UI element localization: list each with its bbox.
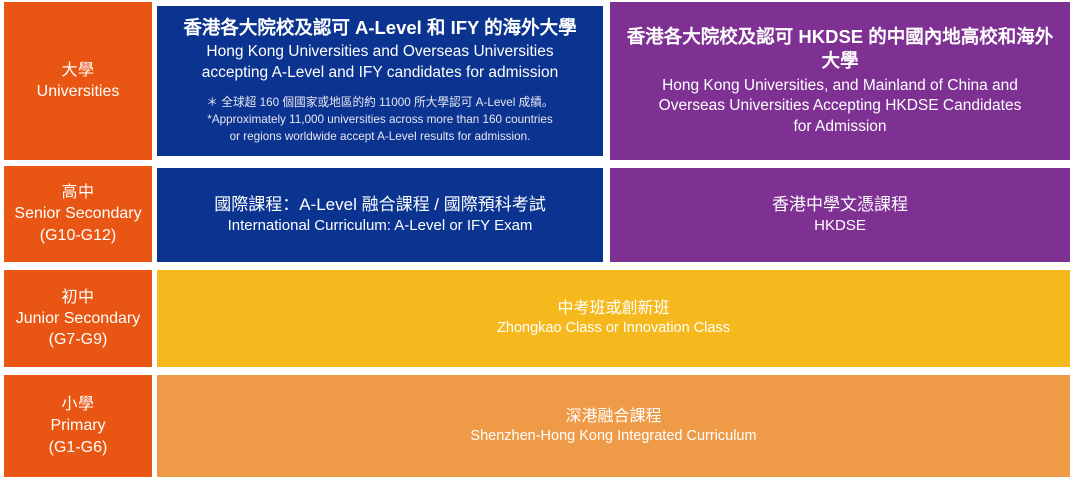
university-hkdse-panel: 香港各大院校及認可 HKDSE 的中國內地高校和海外大學 Hong Kong U…: [610, 2, 1070, 160]
alevel-footnote-en-line1: *Approximately 11,000 universities acros…: [183, 112, 576, 129]
alevel-university-title-zh: 香港各大院校及認可 A-Level 和 IFY 的海外大學: [183, 16, 576, 40]
junior-curriculum-title-en: Zhongkao Class or Innovation Class: [497, 319, 730, 338]
stage-label-senior-secondary: 高中 Senior Secondary (G10-G12): [4, 166, 152, 262]
stage-label-grade-range: (G10-G12): [40, 225, 116, 246]
stage-label-grade-range: (G7-G9): [49, 329, 108, 350]
alevel-university-title-en-line1: Hong Kong Universities and Overseas Univ…: [183, 42, 576, 62]
primary-curriculum-title-en: Shenzhen-Hong Kong Integrated Curriculum: [470, 427, 756, 446]
stage-label-grade-range: (G1-G6): [49, 437, 108, 458]
stage-label-en: Universities: [37, 81, 120, 102]
senior-hkdse-title-en: HKDSE: [772, 216, 908, 236]
alevel-footnote: ＊ 全球超 160 個國家或地區的約 11000 所大學認可 A-Level 成…: [183, 95, 576, 146]
stage-label-zh: 小學: [61, 394, 94, 415]
senior-hkdse-title-zh: 香港中學文憑課程: [772, 194, 908, 216]
stage-label-en: Junior Secondary: [16, 308, 141, 329]
alevel-footnote-zh: ＊ 全球超 160 個國家或地區的約 11000 所大學認可 A-Level 成…: [183, 95, 576, 112]
stage-label-universities: 大學 Universities: [4, 2, 152, 160]
junior-curriculum-title-zh: 中考班或創新班: [497, 298, 730, 319]
senior-hkdse-curriculum-panel: 香港中學文憑課程 HKDSE: [610, 168, 1070, 262]
university-alevel-ify-panel: 香港各大院校及認可 A-Level 和 IFY 的海外大學 Hong Kong …: [157, 6, 603, 156]
education-pathway-diagram: 大學 Universities 高中 Senior Secondary (G10…: [0, 0, 1080, 480]
senior-alevel-curriculum-panel: 國際課程：A-Level 融合課程 / 國際預科考試 International…: [157, 168, 603, 262]
stage-label-en: Primary: [50, 415, 105, 436]
primary-curriculum-title-zh: 深港融合課程: [470, 406, 756, 427]
alevel-footnote-en-line2: or regions worldwide accept A-Level resu…: [183, 129, 576, 146]
primary-curriculum-panel: 深港融合課程 Shenzhen-Hong Kong Integrated Cur…: [157, 375, 1070, 477]
stage-label-junior-secondary: 初中 Junior Secondary (G7-G9): [4, 270, 152, 367]
alevel-university-title-en-line2: accepting A-Level and IFY candidates for…: [183, 63, 576, 83]
stage-label-zh: 大學: [61, 60, 94, 81]
senior-alevel-title-en: International Curriculum: A-Level or IFY…: [214, 216, 546, 236]
stage-label-primary: 小學 Primary (G1-G6): [4, 375, 152, 477]
stage-label-en: Senior Secondary: [14, 203, 141, 224]
junior-secondary-curriculum-panel: 中考班或創新班 Zhongkao Class or Innovation Cla…: [157, 270, 1070, 367]
hkdse-university-title-en-line2: Overseas Universities Accepting HKDSE Ca…: [624, 96, 1056, 116]
hkdse-university-title-en-line1: Hong Kong Universities, and Mainland of …: [624, 76, 1056, 96]
hkdse-university-title-en-line3: for Admission: [624, 117, 1056, 137]
stage-label-zh: 初中: [61, 287, 94, 308]
hkdse-university-title-zh: 香港各大院校及認可 HKDSE 的中國內地高校和海外大學: [624, 25, 1056, 74]
senior-alevel-title-zh: 國際課程：A-Level 融合課程 / 國際預科考試: [214, 194, 546, 216]
stage-label-zh: 高中: [61, 182, 94, 203]
